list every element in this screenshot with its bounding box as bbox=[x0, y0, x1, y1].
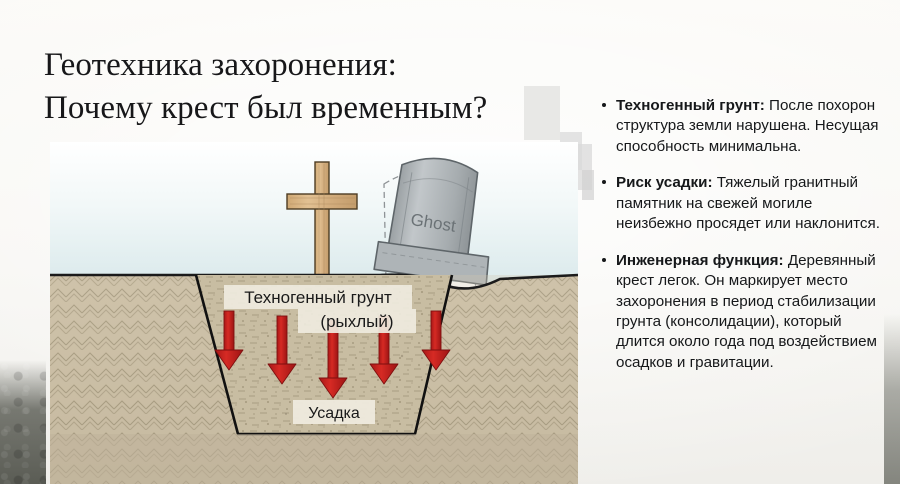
bullet-item: Инженерная функция: Деревянный крест лег… bbox=[600, 251, 892, 374]
bullet-lead: Техногенный грунт: bbox=[616, 97, 765, 114]
slide-canvas: Геотехника захоронения: Почему крест был… bbox=[0, 0, 900, 484]
soil-label-line1: Техногенный грунт bbox=[244, 288, 392, 307]
settlement-label-text: Усадка bbox=[308, 405, 360, 422]
soil-label-line2: (рыхлый) bbox=[320, 312, 393, 331]
gray-artifact-chip bbox=[582, 170, 594, 200]
bullet-dot-icon bbox=[602, 103, 606, 107]
slide-title: Геотехника захоронения: Почему крест был… bbox=[44, 44, 584, 130]
sky-background bbox=[50, 142, 578, 282]
bullet-dot-icon bbox=[602, 258, 606, 262]
bullet-item: Риск усадки: Тяжелый гранитный памятник … bbox=[600, 173, 892, 234]
bullet-list: Техногенный грунт: После похорон структу… bbox=[600, 96, 892, 373]
settlement-label: Усадка bbox=[293, 400, 375, 424]
lower-soil-apron bbox=[50, 434, 578, 484]
bullet-lead: Риск усадки: bbox=[616, 174, 713, 191]
bullet-lead: Инженерная функция: bbox=[616, 252, 784, 269]
bullet-body: Деревянный крест легок. Он маркирует мес… bbox=[616, 252, 877, 371]
bullet-item: Техногенный грунт: После похорон структу… bbox=[600, 96, 892, 157]
left-edge-texture bbox=[0, 360, 46, 484]
burial-pit-diagram: Ghost bbox=[50, 142, 578, 484]
bullet-dot-icon bbox=[602, 180, 606, 184]
